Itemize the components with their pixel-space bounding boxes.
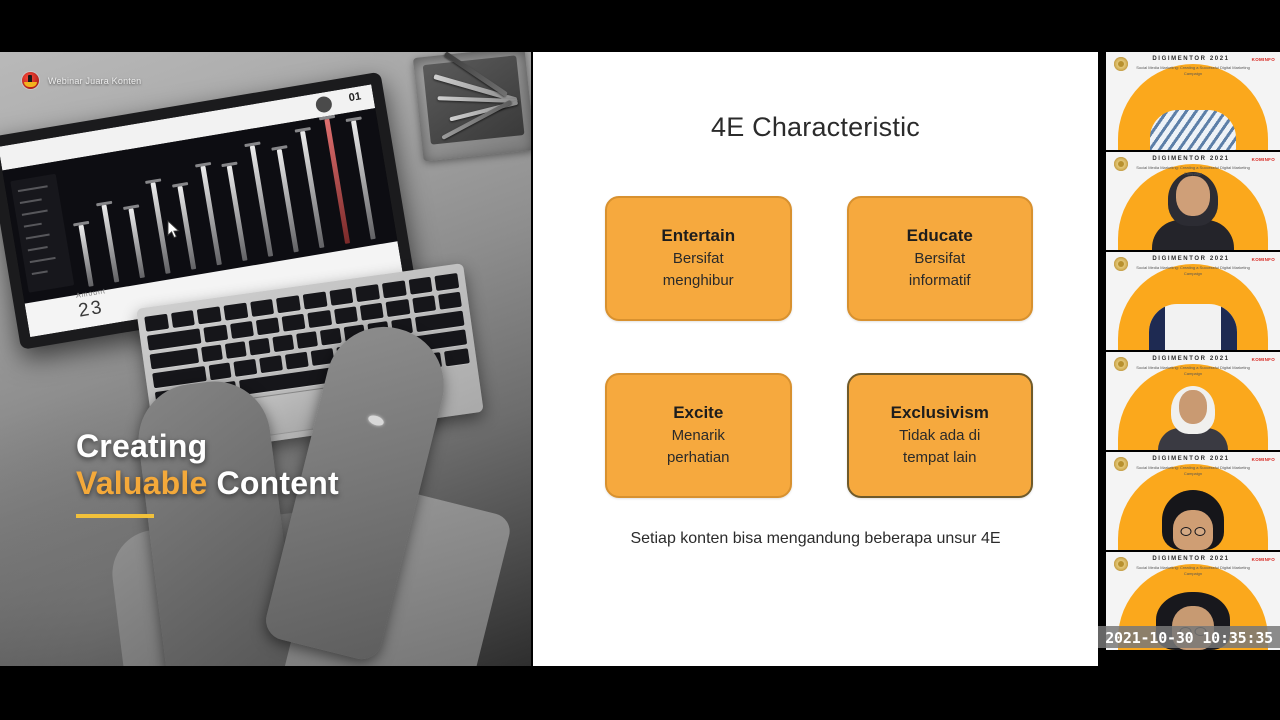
participant-tile[interactable]: DIGIMENTOR 2021 Social Media Marketing: … <box>1106 52 1280 152</box>
tile-subtitle: Social Media Marketing: Creating a Succe… <box>1130 265 1256 277</box>
tile-subtitle: Social Media Marketing: Creating a Succe… <box>1130 365 1256 377</box>
pen-tray-icon <box>413 52 531 162</box>
tile-branding: DIGIMENTOR 2021 Social Media Marketing: … <box>1106 152 1280 182</box>
tile-title: DIGIMENTOR 2021 <box>1136 556 1246 562</box>
tile-subtitle: Social Media Marketing: Creating a Succe… <box>1130 465 1256 477</box>
tile-branding: DIGIMENTOR 2021 Social Media Marketing: … <box>1106 252 1280 282</box>
four-e-box-title: Excite <box>673 403 723 423</box>
laptop-window-number: 01 <box>348 90 362 104</box>
four-e-box-title: Educate <box>907 226 973 246</box>
headline-line-1: Creating <box>76 428 339 466</box>
four-e-box-desc: Tidak ada di tempat lain <box>899 425 980 468</box>
participant-tile[interactable]: DIGIMENTOR 2021 Social Media Marketing: … <box>1106 152 1280 252</box>
page-title: 4E Characteristic <box>533 112 1098 143</box>
slide-footnote: Setiap konten bisa mengandung beberapa u… <box>533 530 1098 548</box>
tile-branding: DIGIMENTOR 2021 Social Media Marketing: … <box>1106 52 1280 82</box>
four-e-box-desc: Menarik perhatian <box>667 425 730 468</box>
tile-subtitle: Social Media Marketing: Creating a Succe… <box>1130 565 1256 577</box>
kominfo-logo-icon: KOMINFO <box>1252 457 1275 462</box>
gold-seal-icon <box>1114 357 1128 371</box>
kominfo-logo-icon: KOMINFO <box>1252 557 1275 562</box>
shared-screen-headline: Creating Valuable Content <box>76 428 339 519</box>
laptop-metric-value: 23 <box>77 297 105 323</box>
four-e-box-title: Entertain <box>661 226 735 246</box>
four-e-grid: Entertain Bersifat menghibur Educate Ber… <box>605 196 1033 498</box>
four-e-box-exclusivism: Exclusivism Tidak ada di tempat lain <box>847 373 1034 498</box>
recording-timestamp: 2021-10-30 10:35:35 <box>1098 626 1280 648</box>
four-e-box-desc: Bersifat informatif <box>909 248 971 291</box>
tile-subtitle: Social Media Marketing: Creating a Succe… <box>1130 165 1256 177</box>
shared-screen-brand-label: Webinar Juara Konten <box>48 76 141 86</box>
headline-accent-word: Valuable <box>76 465 207 501</box>
four-e-box-desc: Bersifat menghibur <box>663 248 734 291</box>
gold-seal-icon <box>1114 257 1128 271</box>
tile-title: DIGIMENTOR 2021 <box>1136 456 1246 462</box>
tile-branding: DIGIMENTOR 2021 Social Media Marketing: … <box>1106 552 1280 582</box>
mouse-pointer-icon <box>167 220 181 240</box>
participant-tile[interactable]: DIGIMENTOR 2021 Social Media Marketing: … <box>1106 252 1280 352</box>
participant-tile[interactable]: DIGIMENTOR 2021 Social Media Marketing: … <box>1106 352 1280 452</box>
presentation-slide[interactable]: 4E Characteristic Entertain Bersifat men… <box>533 52 1098 666</box>
kominfo-logo-icon: KOMINFO <box>1252 257 1275 262</box>
shared-screen-brand: Webinar Juara Konten <box>22 72 141 89</box>
juara-konten-logo-icon <box>22 72 39 89</box>
tile-title: DIGIMENTOR 2021 <box>1136 156 1246 162</box>
headline-underline-rule <box>76 514 154 518</box>
headline-line-2: Valuable Content <box>76 465 339 503</box>
four-e-box-entertain: Entertain Bersifat menghibur <box>605 196 792 321</box>
kominfo-logo-icon: KOMINFO <box>1252 157 1275 162</box>
participant-filmstrip[interactable]: DIGIMENTOR 2021 Social Media Marketing: … <box>1106 52 1280 666</box>
gold-seal-icon <box>1114 557 1128 571</box>
headline-line-2-rest: Content <box>207 465 338 501</box>
gold-seal-icon <box>1114 57 1128 71</box>
tile-title: DIGIMENTOR 2021 <box>1136 256 1246 262</box>
four-e-box-excite: Excite Menarik perhatian <box>605 373 792 498</box>
tile-branding: DIGIMENTOR 2021 Social Media Marketing: … <box>1106 352 1280 382</box>
four-e-box-title: Exclusivism <box>891 403 989 423</box>
four-e-box-educate: Educate Bersifat informatif <box>847 196 1034 321</box>
tile-title: DIGIMENTOR 2021 <box>1136 356 1246 362</box>
participant-tile[interactable]: DIGIMENTOR 2021 Social Media Marketing: … <box>1106 452 1280 552</box>
tile-subtitle: Social Media Marketing: Creating a Succe… <box>1130 65 1256 77</box>
gold-seal-icon <box>1114 157 1128 171</box>
tile-branding: DIGIMENTOR 2021 Social Media Marketing: … <box>1106 452 1280 482</box>
kominfo-logo-icon: KOMINFO <box>1252 57 1275 62</box>
meeting-recording-stage: 01 <box>0 0 1280 720</box>
tile-title: DIGIMENTOR 2021 <box>1136 56 1246 62</box>
kominfo-logo-icon: KOMINFO <box>1252 357 1275 362</box>
gold-seal-icon <box>1114 457 1128 471</box>
shared-screen-photo-slide[interactable]: 01 <box>0 52 531 666</box>
